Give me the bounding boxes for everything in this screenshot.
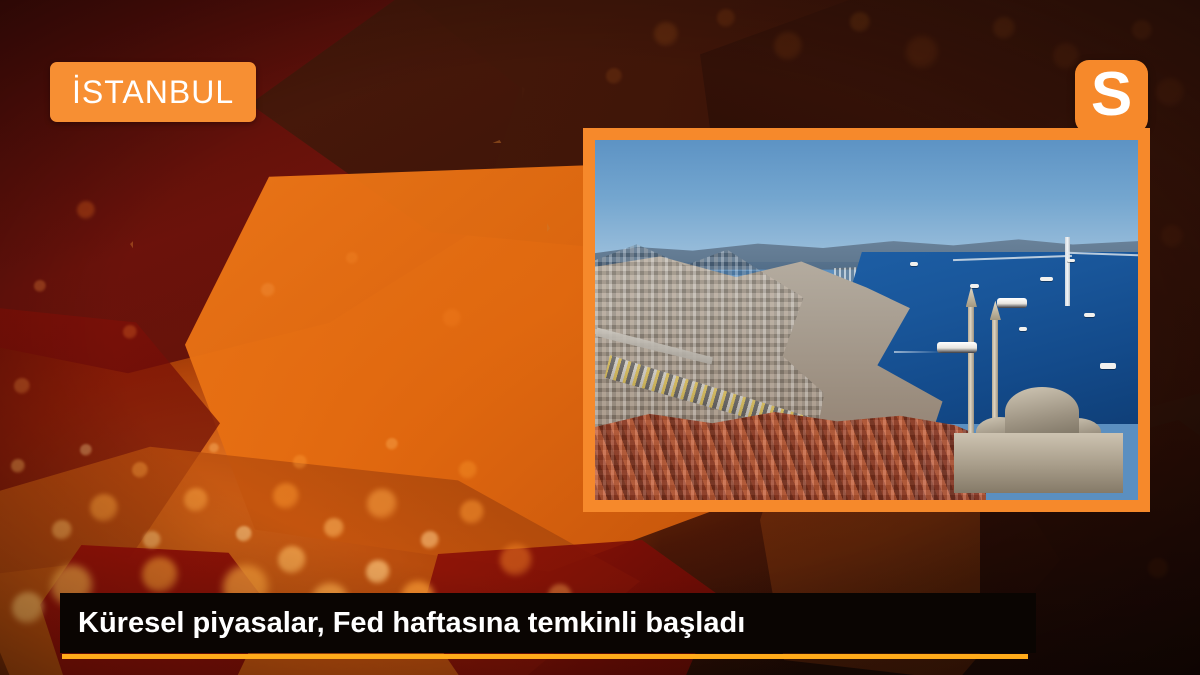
- headline-underline: [62, 654, 1028, 659]
- photo-bosphorus-bridge-tower: [1065, 237, 1070, 305]
- photo-boat-4: [1019, 327, 1028, 331]
- photo-boat-2: [970, 284, 980, 288]
- headline-bar: Küresel piyasalar, Fed haftasına temkinl…: [60, 593, 1036, 653]
- headline-text: Küresel piyasalar, Fed haftasına temkinl…: [60, 609, 745, 638]
- photo-boat-1: [1040, 277, 1053, 282]
- photo-ferry-large: [937, 342, 977, 354]
- photo-mosque-body: [954, 433, 1124, 493]
- photo-boat-5: [1100, 363, 1116, 369]
- location-badge: İSTANBUL: [50, 62, 256, 122]
- logo-s-mark[interactable]: S: [1075, 60, 1148, 133]
- photo-boat-6: [910, 262, 918, 265]
- photo-ferry-mid: [997, 298, 1027, 307]
- logo-letter: S: [1091, 64, 1132, 126]
- photo-frame: [583, 128, 1150, 512]
- istanbul-photo: [595, 140, 1138, 500]
- photo-boat-3: [1084, 313, 1095, 317]
- thumbnail-canvas: İSTANBUL S: [0, 0, 1200, 675]
- photo-boat-7: [1067, 259, 1075, 262]
- photo-dome-main: [1005, 387, 1079, 437]
- location-badge-label: İSTANBUL: [72, 76, 234, 108]
- photo-ferry-wake: [894, 351, 943, 353]
